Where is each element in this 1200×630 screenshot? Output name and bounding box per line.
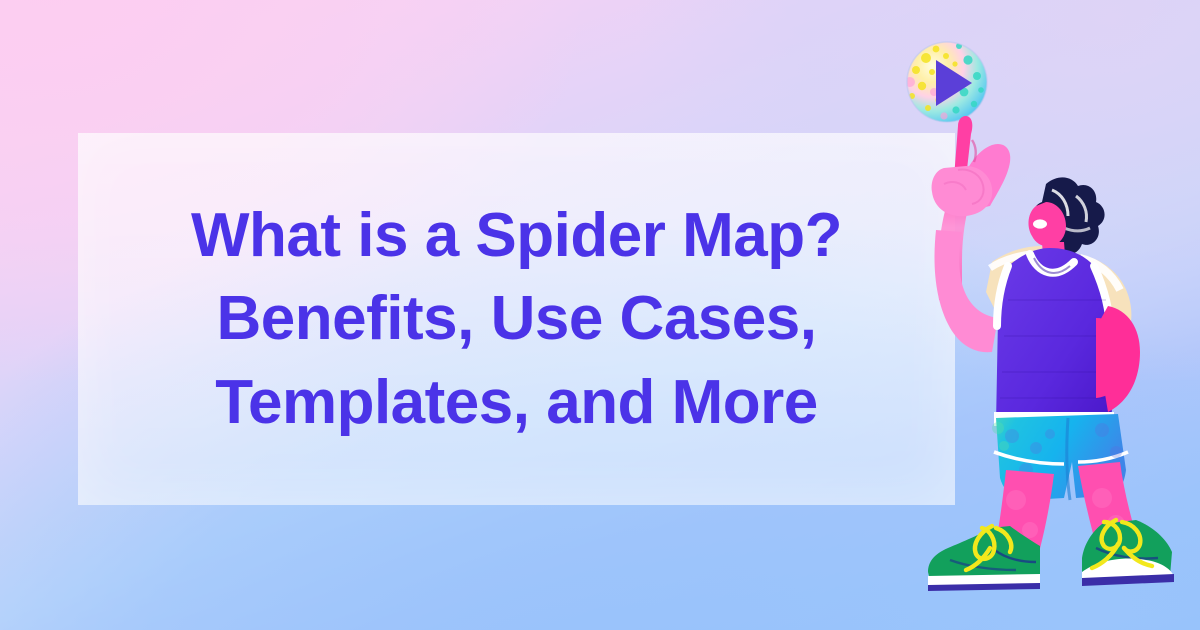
shorts: [992, 414, 1128, 500]
head-hair: [1033, 177, 1105, 254]
sneaker-sole-right: [1082, 559, 1174, 581]
play-ball-sphere: [905, 42, 987, 122]
play-triangle-icon: [936, 60, 972, 106]
shoulder-skin-left: [986, 246, 1046, 316]
shoelaces-right: [1092, 520, 1152, 568]
banner-canvas: What is a Spider Map? Benefits, Use Case…: [0, 0, 1200, 630]
headline-line-2: Benefits, Use Cases,: [217, 277, 817, 360]
headline-line-3: Templates, and More: [215, 361, 818, 444]
page-title: What is a Spider Map? Benefits, Use Case…: [78, 133, 955, 505]
legs: [994, 462, 1140, 556]
shorts-stripe-right: [1078, 452, 1128, 462]
leg-right: [1078, 462, 1140, 552]
shorts-stripe-left: [994, 452, 1064, 464]
sneaker-left: [928, 526, 1040, 591]
jersey-trim-right: [1094, 266, 1110, 332]
jersey-hem: [994, 412, 1114, 426]
right-arm: [1096, 306, 1140, 412]
sneaker-right: [1082, 520, 1174, 586]
jersey-trim-left: [997, 266, 1008, 326]
jersey-trim-neck: [1030, 254, 1074, 273]
head-and-hair: [1029, 177, 1105, 270]
sneaker-sole-left: [928, 574, 1040, 586]
headline-line-1: What is a Spider Map?: [191, 194, 842, 277]
jersey: [996, 248, 1112, 424]
shoelaces-left: [966, 526, 1011, 570]
leg-left: [994, 470, 1054, 556]
shoulder-skin-right: [1076, 254, 1131, 334]
face: [1029, 202, 1066, 247]
torso: [986, 246, 1131, 426]
